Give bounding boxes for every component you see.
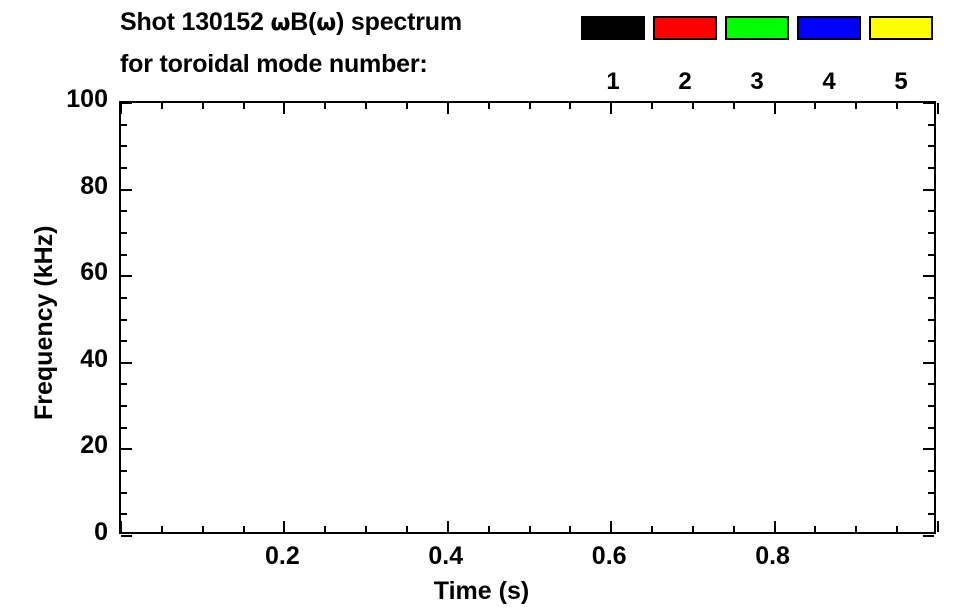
x-tick <box>243 103 245 109</box>
x-tick <box>202 526 204 532</box>
x-tick-label: 0.6 <box>564 542 654 571</box>
x-tick <box>406 103 408 109</box>
y-tick-label: 60 <box>38 258 108 287</box>
plot-frame <box>119 101 936 534</box>
y-tick <box>121 124 127 126</box>
legend-label-1: 1 <box>579 68 647 96</box>
x-tick <box>324 526 326 532</box>
y-tick <box>121 297 127 299</box>
y-tick <box>121 405 127 407</box>
x-tick <box>733 526 735 532</box>
y-tick <box>928 232 934 234</box>
x-tick <box>774 103 776 114</box>
y-tick <box>121 189 132 191</box>
y-tick <box>121 427 127 429</box>
x-tick <box>529 103 531 109</box>
legend-label-3: 3 <box>723 68 791 96</box>
legend-label-4: 4 <box>795 68 863 96</box>
y-tick <box>121 492 127 494</box>
x-tick <box>529 526 531 532</box>
figure-title-line-1: Shot 130152 ωB(ω) spectrum <box>120 8 462 37</box>
title-suffix: ) spectrum <box>336 8 462 36</box>
y-tick <box>121 470 127 472</box>
y-tick <box>928 254 934 256</box>
y-tick-label: 40 <box>38 345 108 374</box>
y-tick-label: 0 <box>38 518 108 547</box>
y-tick <box>121 448 132 450</box>
legend-swatch-3 <box>725 16 789 40</box>
legend-swatch-4 <box>797 16 861 40</box>
y-tick <box>928 513 934 515</box>
x-tick <box>447 103 449 114</box>
x-tick <box>855 103 857 109</box>
x-tick <box>651 526 653 532</box>
legend-label-5: 5 <box>867 68 935 96</box>
x-tick <box>651 103 653 109</box>
y-tick <box>928 405 934 407</box>
y-tick <box>121 383 127 385</box>
y-tick <box>928 124 934 126</box>
x-tick <box>161 526 163 532</box>
y-tick <box>923 275 934 277</box>
x-tick <box>202 103 204 109</box>
x-tick-label: 0.4 <box>401 542 491 571</box>
x-tick <box>406 526 408 532</box>
y-tick <box>928 145 934 147</box>
x-tick <box>692 103 694 109</box>
x-tick <box>488 526 490 532</box>
legend-swatch-5 <box>869 16 933 40</box>
x-tick <box>283 103 285 114</box>
title-mid: B( <box>290 8 316 36</box>
x-tick <box>365 103 367 109</box>
x-tick-label: 0.8 <box>728 542 818 571</box>
x-tick <box>447 521 449 532</box>
y-tick <box>121 210 127 212</box>
y-tick <box>121 275 132 277</box>
y-tick <box>121 513 127 515</box>
y-tick <box>923 535 934 537</box>
y-tick <box>121 102 132 104</box>
y-tick <box>923 362 934 364</box>
x-tick <box>569 526 571 532</box>
y-tick <box>121 167 127 169</box>
y-tick <box>928 340 934 342</box>
y-tick-label: 20 <box>38 431 108 460</box>
y-axis-title: Frequency (kHz) <box>30 226 59 420</box>
y-tick <box>121 362 132 364</box>
title-prefix: Shot 130152 <box>120 8 270 36</box>
x-tick <box>937 521 939 532</box>
x-tick <box>610 521 612 532</box>
x-tick <box>814 103 816 109</box>
x-tick-label: 0.2 <box>237 542 327 571</box>
y-tick-label: 80 <box>38 172 108 201</box>
x-tick <box>324 103 326 109</box>
y-tick <box>923 189 934 191</box>
y-tick <box>928 319 934 321</box>
x-tick <box>733 103 735 109</box>
figure-title-line-2: for toroidal mode number: <box>120 50 428 79</box>
x-tick <box>692 526 694 532</box>
y-tick <box>928 210 934 212</box>
y-tick <box>121 232 127 234</box>
y-tick <box>928 427 934 429</box>
y-tick <box>928 297 934 299</box>
x-tick <box>855 526 857 532</box>
y-tick <box>923 102 934 104</box>
x-tick <box>161 103 163 109</box>
legend-swatch-2 <box>653 16 717 40</box>
x-tick <box>365 526 367 532</box>
y-tick <box>928 383 934 385</box>
spectrogram-figure: Shot 130152 ωB(ω) spectrum for toroidal … <box>0 0 963 615</box>
y-tick <box>923 448 934 450</box>
x-tick <box>120 103 122 114</box>
y-tick <box>928 492 934 494</box>
x-tick <box>937 103 939 114</box>
y-tick <box>121 254 127 256</box>
x-axis-title: Time (s) <box>0 577 963 606</box>
omega-symbol-1: ω <box>270 10 290 36</box>
y-tick-label: 100 <box>38 85 108 114</box>
y-tick <box>121 340 127 342</box>
x-tick <box>610 103 612 114</box>
x-tick <box>569 103 571 109</box>
x-tick <box>120 521 122 532</box>
omega-symbol-2: ω <box>316 10 336 36</box>
y-tick <box>121 319 127 321</box>
legend-swatch-1 <box>581 16 645 40</box>
x-tick <box>896 526 898 532</box>
x-tick <box>774 521 776 532</box>
x-tick <box>814 526 816 532</box>
x-tick <box>488 103 490 109</box>
x-tick <box>283 521 285 532</box>
x-tick <box>243 526 245 532</box>
y-tick <box>928 167 934 169</box>
x-tick <box>896 103 898 109</box>
y-tick <box>121 145 127 147</box>
legend-label-2: 2 <box>651 68 719 96</box>
y-tick <box>121 535 132 537</box>
y-tick <box>928 470 934 472</box>
